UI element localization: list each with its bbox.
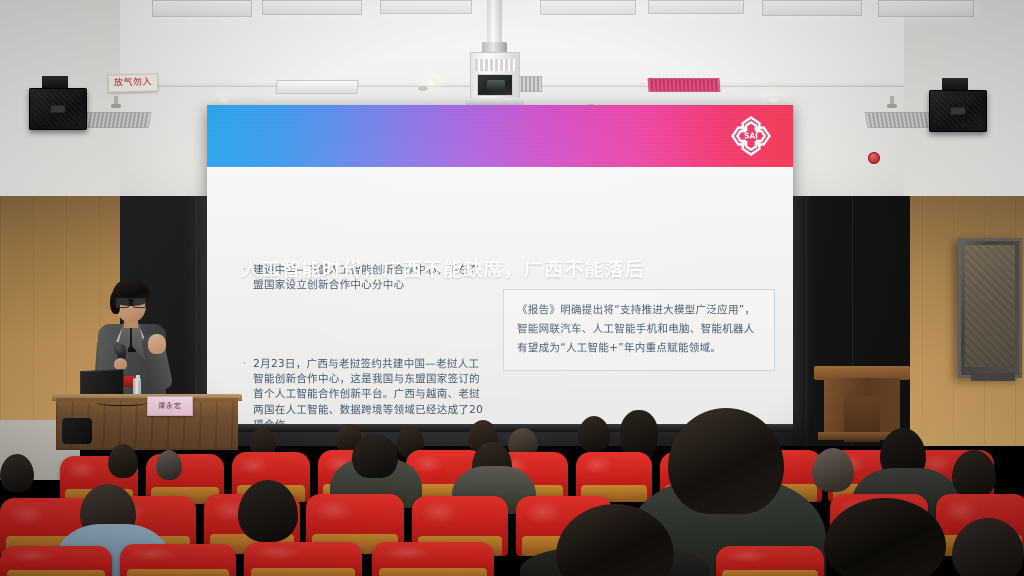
speaker-logo <box>951 108 965 115</box>
presenter-hand-gesturing <box>148 334 166 354</box>
speaker-logo <box>51 106 65 113</box>
ceiling-light-panel <box>540 0 636 15</box>
sprinkler-head <box>114 96 118 106</box>
microphone-head <box>114 344 126 355</box>
projector-window <box>477 74 513 96</box>
ceiling-light-strip <box>275 80 358 94</box>
fire-alarm-bell-icon <box>868 152 880 164</box>
svg-text:SAI: SAI <box>744 132 758 141</box>
air-vent-lit <box>648 78 721 92</box>
sprinkler-head <box>890 96 894 106</box>
audience-head <box>578 416 610 452</box>
ceiling-light-panel <box>380 0 472 14</box>
warning-sign: 放气勿入 <box>108 73 158 92</box>
audience-head-foreground <box>668 408 784 514</box>
conference-hall-photo: 放气勿入 人工智能时代，广西不能缺席，广西不能落后 SAI <box>0 0 1024 576</box>
ceiling-light-panel <box>262 0 362 15</box>
projection-screen: 人工智能时代，广西不能缺席，广西不能落后 SAI · 建设中国—东盟人工智能创新… <box>207 105 793 430</box>
audience-seat <box>716 546 824 576</box>
audience-head <box>0 454 34 492</box>
cable <box>96 396 148 406</box>
downlight <box>424 78 437 86</box>
ceiling-light-panel <box>878 0 974 17</box>
audience-head <box>352 434 398 478</box>
ceiling-light-panel <box>648 0 744 14</box>
right-wall-speaker <box>929 90 987 132</box>
monitor-screen <box>965 245 1015 367</box>
audience-head <box>812 448 854 492</box>
warning-sign-text: 放气勿入 <box>114 78 152 88</box>
projector-lens <box>487 80 505 91</box>
ceiling-light-panel <box>152 0 252 17</box>
smoke-detector <box>418 86 428 91</box>
monitor-foot <box>971 373 1015 381</box>
audience-seat <box>576 452 652 502</box>
audience-seat <box>0 546 112 576</box>
left-wall-speaker <box>29 88 87 130</box>
presenter-glasses <box>116 298 146 305</box>
downlight <box>216 96 232 105</box>
slide-title: 人工智能时代，广西不能缺席，广西不能落后 <box>241 254 645 281</box>
slide-body: · 建设中国—东盟人工智能创新合作中心，并在东盟国家设立创新合作中心分中心 · … <box>207 167 793 430</box>
sai-logo-icon: SAI <box>729 114 773 158</box>
speaker-bracket-right <box>942 78 968 90</box>
audience-seat <box>120 544 236 576</box>
right-wall-monitor <box>958 238 1022 378</box>
audience-seating <box>0 406 1024 576</box>
slide-callout-box: 《报告》明确提出将“支持推进大模型广泛应用”，智能网联汽车、人工智能手机和电脑、… <box>503 289 775 371</box>
audience-seat <box>372 542 494 576</box>
audience-head <box>620 410 658 458</box>
audience-head <box>952 450 996 498</box>
downlight <box>766 96 782 105</box>
audience-head <box>108 444 138 478</box>
speaker-bracket-left <box>42 76 68 88</box>
audience-seat <box>244 542 362 576</box>
slide-title-bar <box>207 105 793 167</box>
ceiling-light-panel <box>762 0 862 16</box>
audience-head <box>156 450 182 480</box>
audience-head <box>238 480 298 542</box>
projector-vent-slots <box>475 59 517 71</box>
